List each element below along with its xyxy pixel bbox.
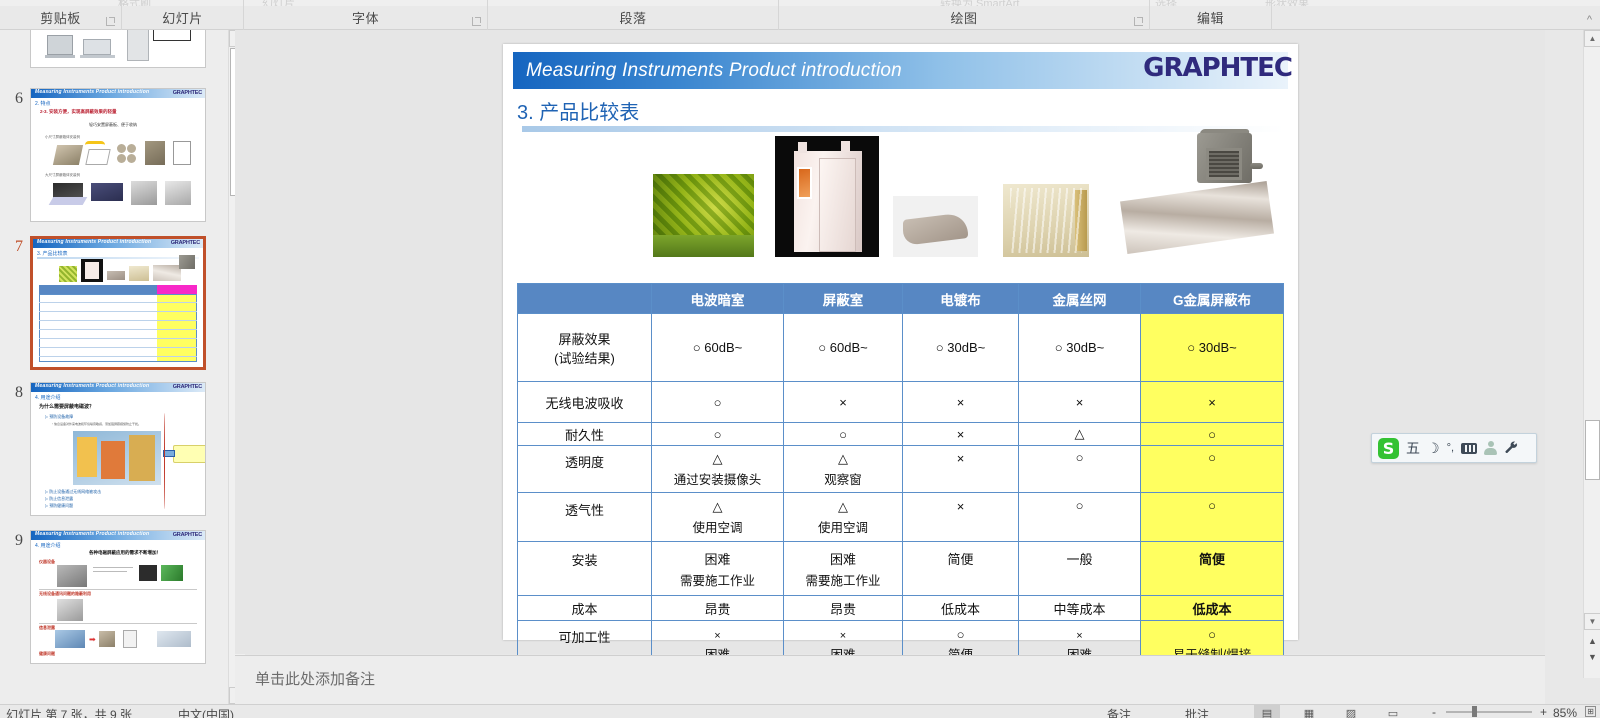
shield-room-photo[interactable] (775, 136, 879, 257)
sym-r0-c2: ○ (818, 340, 826, 355)
cell-r5-c5: 简便 (1141, 542, 1284, 596)
ribbon-group-slides-label: 幻灯片 (162, 8, 203, 30)
thumb8-bullet3: ▷ 防止信息泄露 (45, 496, 73, 502)
cell-r4-c1: △使用空调 (652, 493, 784, 542)
slide-editing-area[interactable]: Measuring Instruments Product introducti… (235, 30, 1545, 654)
cell-r6-c2: 昂贵 (784, 596, 903, 621)
thumbnail-number-7: 7 (0, 236, 30, 256)
sub-r3-c2: 观察窗 (784, 469, 902, 488)
slide-scroll-up-button[interactable]: ▲ (1584, 30, 1600, 47)
ribbon-group-slides[interactable]: 幻灯片 (122, 0, 244, 30)
cell-r0-c1: ○ 60dB~ (652, 314, 784, 382)
table-row: 透明度 △通过安装摄像头 △观察窗 × ○ ○ (518, 446, 1284, 493)
current-slide[interactable]: Measuring Instruments Product introducti… (503, 44, 1298, 640)
zoom-slider-handle[interactable] (1472, 706, 1477, 717)
cell-r3-c1: △通过安装摄像头 (652, 446, 784, 493)
thumb6-logo: GRAPHTEC (173, 90, 202, 96)
sym-r0-c5: ○ (1187, 340, 1195, 355)
collapse-ribbon-icon[interactable]: ^ (1587, 14, 1592, 26)
thumb6-caption: 轻巧安置屏蔽板、便于收纳 (89, 122, 137, 128)
cell-r1-c5: × (1141, 382, 1284, 423)
thumb9-heading: 各种电磁屏蔽应用的需求不断增加！ (89, 550, 161, 556)
sym-r7-c3: ○ (957, 627, 965, 642)
row-label-shielding-effect: 屏蔽效果 (试验结果) (518, 314, 652, 382)
thumbnail-slide-9[interactable]: Measuring Instruments Product introducti… (30, 530, 206, 664)
thumbnail-slide-5[interactable] (30, 30, 206, 68)
cell-r1-c3: × (903, 382, 1019, 423)
sub-r5-c1: 需要施工作业 (652, 570, 783, 589)
slide-section-title: 3. 产品比较表 (517, 96, 639, 125)
cell-r4-c3: × (903, 493, 1019, 542)
cell-r6-c1: 昂贵 (652, 596, 784, 621)
fit-slide-to-window-button[interactable]: ⊞ (1585, 706, 1596, 717)
sym-r3-c2: △ (838, 451, 848, 466)
th-shieldroom: 屏蔽室 (784, 284, 903, 314)
thumb6-header-title: Measuring Instruments Product introducti… (35, 89, 149, 95)
sym-r7-c2: × (840, 630, 846, 642)
cell-r3-c3: × (903, 446, 1019, 493)
slide-scroll-down-button[interactable]: ▼ (1584, 613, 1600, 630)
cell-r4-c5: ○ (1141, 493, 1284, 542)
wrench-icon[interactable] (1504, 441, 1519, 456)
notes-pane[interactable]: 单击此处添加备注 (235, 655, 1545, 704)
thumb8-subtitle: 4. 用途介绍 (35, 394, 61, 401)
cell-r0-c3: ○ 30dB~ (903, 314, 1019, 382)
th-platedcloth: 电镀布 (903, 284, 1019, 314)
row-label-line2: (试验结果) (554, 351, 615, 366)
thumb7-subtitle: 3. 产品比较表 (37, 250, 68, 257)
thumb6-note2: 大尺寸屏蔽箱体安装例 (45, 173, 80, 178)
slide-area-scrollbar[interactable]: ▲ ▼ ▲ ▼ (1583, 30, 1600, 678)
cell-r2-c1: ○ (652, 423, 784, 446)
cell-r1-c4: × (1019, 382, 1141, 423)
ribbon-group-labels-bar: 格式刷 幻灯片 转换为 SmartArt 形状效果 选择 剪贴板 幻灯片 字体 … (0, 0, 1600, 30)
thumb9-subtitle: 4. 用途介绍 (35, 542, 61, 549)
ribbon-group-clipboard[interactable]: 剪贴板 (0, 0, 122, 30)
thumb8-logo: GRAPHTEC (173, 384, 202, 390)
thumb8-bullet4: ▷ 预防健康问题 (45, 503, 73, 509)
punctuation-mode-icon[interactable]: °, (1447, 442, 1454, 454)
thumb8-header-title: Measuring Instruments Product introducti… (35, 383, 149, 389)
ribbon-group-editing-label: 编辑 (1197, 8, 1224, 30)
slide-thumbnail-pane[interactable]: 5 6 Measuring Instruments Product introd… (0, 30, 228, 704)
previous-slide-button[interactable]: ▲ (1584, 634, 1600, 648)
cell-r3-c5: ○ (1141, 446, 1284, 493)
g-metal-shield-cloth-photo[interactable] (1123, 177, 1271, 257)
zoom-out-button[interactable]: - (1432, 705, 1436, 718)
ribbon-group-editing[interactable]: 编辑 (1150, 0, 1272, 30)
ribbon-group-clipboard-label: 剪贴板 (40, 8, 81, 30)
thumbnail-slide-6[interactable]: Measuring Instruments Product introducti… (30, 88, 206, 222)
table-row: 无线电波吸收 ○ × × × × (518, 382, 1284, 423)
thumb9-s3: 信息泄露 (39, 625, 55, 631)
cell-r5-c1: 困难需要施工作业 (652, 542, 784, 596)
thumb9-logo: GRAPHTEC (173, 532, 202, 538)
thumbnail-item-9[interactable]: 9 Measuring Instruments Product introduc… (0, 530, 228, 664)
thumbnail-slide-7[interactable]: Measuring Instruments Product introducti… (30, 236, 206, 370)
row-label-durability: 耐久性 (518, 423, 652, 446)
txt-r0-c1: 60dB~ (704, 340, 742, 355)
sub-r3-c1: 通过安装摄像头 (652, 469, 783, 488)
row-label-cost: 成本 (518, 596, 652, 621)
slide-title-underline (522, 126, 1284, 132)
ribbon-group-font-label: 字体 (352, 8, 379, 30)
th-metalmesh: 金属丝网 (1019, 284, 1141, 314)
ribbon-group-drawing[interactable]: 绘图 (779, 0, 1150, 30)
thumbnail-number-6: 6 (0, 88, 30, 108)
thumbnail-number-8: 8 (0, 382, 30, 402)
cell-r5-c3: 简便 (903, 542, 1019, 596)
txt-r0-c3: 30dB~ (947, 340, 985, 355)
th-gmetalcloth: G金属屏蔽布 (1141, 284, 1284, 314)
txt-r0-c5: 30dB~ (1199, 340, 1237, 355)
font-dialog-launcher-icon[interactable] (472, 17, 481, 26)
sym-r7-c1: × (714, 630, 720, 642)
cell-r6-c4: 中等成本 (1019, 596, 1141, 621)
drawing-dialog-launcher-icon[interactable] (1134, 17, 1143, 26)
thumb8-sub1: ・信息设备对外来电波和环境噪音敏感，须加强屏蔽措施防止干扰。 (51, 422, 141, 426)
th-anechoic: 电波暗室 (652, 284, 784, 314)
anechoic-chamber-photo[interactable] (653, 174, 754, 257)
sub-r4-c2: 使用空调 (784, 517, 902, 536)
comments-toggle-button[interactable]: 批注 (1185, 706, 1209, 718)
graphtec-logo: GRAPHTEC (1143, 53, 1292, 83)
table-header-row: 电波暗室 屏蔽室 电镀布 金属丝网 G金属屏蔽布 (518, 284, 1284, 314)
txt-r0-c4: 30dB~ (1066, 340, 1104, 355)
slide-header-title: Measuring Instruments Product introducti… (526, 60, 902, 82)
table-row: 安装 困难需要施工作业 困难需要施工作业 简便 一般 简便 (518, 542, 1284, 596)
table-row: 屏蔽效果 (试验结果) ○ 60dB~ ○ 60dB~ ○ 30dB~ ○ 30… (518, 314, 1284, 382)
notes-placeholder[interactable]: 单击此处添加备注 (255, 668, 375, 689)
reading-view-button[interactable]: ▨ (1338, 705, 1364, 718)
table-row: 成本 昂贵 昂贵 低成本 中等成本 低成本 (518, 596, 1284, 621)
th-empty (518, 284, 652, 314)
row-label-installation: 安装 (518, 542, 652, 596)
ribbon-group-paragraph-label: 段落 (619, 8, 646, 30)
slide-scrollbar-thumb[interactable] (1585, 420, 1600, 480)
thumbnail-item-6[interactable]: 6 Measuring Instruments Product introduc… (0, 88, 228, 222)
table-row: 透气性 △使用空调 △使用空调 × ○ ○ (518, 493, 1284, 542)
sub-r4-c1: 使用空调 (652, 517, 783, 536)
ribbon-group-drawing-label: 绘图 (950, 8, 977, 30)
notes-toggle-button[interactable]: 备注 (1107, 706, 1131, 718)
thumb8-heading: 为什么需要屏蔽电磁波？ (39, 403, 94, 410)
person-icon[interactable] (1484, 441, 1497, 455)
thumb6-heading: 2-3. 安装方便，实现高屏蔽效果的轻量 (40, 109, 117, 115)
thumbnail-number-9: 9 (0, 530, 30, 550)
cell-r3-c4: ○ (1019, 446, 1141, 493)
cell-r6-c5: 低成本 (1141, 596, 1284, 621)
ime-input-mode-label[interactable]: 五 (1406, 438, 1420, 458)
thumb8-bullet1: ▷ 预防设备故障 (45, 414, 73, 420)
sym-r4-c1: △ (713, 499, 723, 514)
language-status[interactable]: 中文(中国) (178, 706, 234, 718)
cell-r2-c2: ○ (784, 423, 903, 446)
thumb6-subtitle: 2. 特点 (35, 100, 51, 107)
cell-r1-c2: × (784, 382, 903, 423)
ribbon-group-font[interactable]: 字体 (244, 0, 488, 30)
shield-tent-photo[interactable] (1193, 128, 1263, 188)
plated-cloth-photo[interactable] (893, 196, 978, 257)
sym-r3-c1: △ (713, 451, 723, 466)
row-label-transparency: 透明度 (518, 446, 652, 493)
cell-r5-c2: 困难需要施工作业 (784, 542, 903, 596)
sym-r0-c1: ○ (693, 340, 701, 355)
sub-r5-c2: 需要施工作业 (784, 570, 902, 589)
sogou-logo-icon[interactable]: S (1378, 438, 1399, 459)
thumb9-s1: 仪器设备 (39, 559, 55, 565)
clipboard-dialog-launcher-icon[interactable] (106, 17, 115, 26)
cell-r4-c2: △使用空调 (784, 493, 903, 542)
sym-r7-c5: ○ (1208, 627, 1216, 642)
thumb9-s2: 无线设备通讯问题的隐蔽利用 (39, 591, 91, 597)
metal-mesh-photo[interactable] (1003, 184, 1089, 257)
row-label-line1: 屏蔽效果 (558, 332, 610, 347)
sym-r0-c4: ○ (1055, 340, 1063, 355)
cell-r4-c4: ○ (1019, 493, 1141, 542)
ribbon-group-paragraph[interactable]: 段落 (488, 0, 779, 30)
cell-r0-c5: ○ 30dB~ (1141, 314, 1284, 382)
cell-r2-c4: △ (1019, 423, 1141, 446)
sym-r4-c2: △ (838, 499, 848, 514)
keyboard-icon[interactable] (1461, 443, 1477, 454)
txt-r5-c2: 困难 (830, 552, 856, 567)
row-label-breathability: 透气性 (518, 493, 652, 542)
cell-r0-c4: ○ 30dB~ (1019, 314, 1141, 382)
next-slide-button[interactable]: ▼ (1584, 650, 1600, 664)
thumb7-logo: GRAPHTEC (171, 240, 200, 246)
cell-r2-c3: × (903, 423, 1019, 446)
cell-r6-c3: 低成本 (903, 596, 1019, 621)
thumb9-header-title: Measuring Instruments Product introducti… (35, 531, 149, 537)
normal-view-button[interactable]: ▤ (1254, 705, 1280, 718)
thumbnail-item-7[interactable]: 7 Measuring Instruments Product introduc… (0, 236, 228, 370)
status-bar[interactable]: 幻灯片 第 7 张，共 9 张 中文(中国) 备注 批注 ▤ ▦ ▨ ▭ - +… (0, 704, 1600, 718)
thumb9-s4: 健康问题 (39, 651, 55, 657)
thumb6-note1: 小尺寸屏蔽箱体安装例 (45, 135, 80, 140)
zoom-in-button[interactable]: + (1540, 705, 1547, 718)
moon-icon[interactable]: ☽ (1427, 440, 1440, 457)
cell-r2-c5: ○ (1141, 423, 1284, 446)
thumb8-bullet2: ▷ 防止设备通过无线网络被攻击 (45, 489, 101, 495)
cell-r1-c1: ○ (652, 382, 784, 423)
sym-r7-c4: × (1076, 630, 1082, 642)
slide-sorter-view-button[interactable]: ▦ (1296, 705, 1322, 718)
txt-r0-c2: 60dB~ (830, 340, 868, 355)
txt-r5-c1: 困难 (704, 552, 730, 567)
slide-count-status[interactable]: 幻灯片 第 7 张，共 9 张 (6, 706, 132, 718)
row-label-radio-absorption: 无线电波吸收 (518, 382, 652, 423)
thumb7-header-title: Measuring Instruments Product introducti… (37, 239, 151, 245)
thumbnail-slide-8[interactable]: Measuring Instruments Product introducti… (30, 382, 206, 516)
cell-r0-c2: ○ 60dB~ (784, 314, 903, 382)
zoom-level-label[interactable]: 85% (1553, 706, 1577, 718)
sogou-ime-toolbar[interactable]: S 五 ☽ °, (1371, 433, 1537, 463)
cell-r5-c4: 一般 (1019, 542, 1141, 596)
thumbnail-item-5[interactable]: 5 (0, 30, 228, 68)
thumbnail-item-8[interactable]: 8 Measuring Instruments Product introduc… (0, 382, 228, 516)
cell-r3-c2: △观察窗 (784, 446, 903, 493)
zoom-slider[interactable] (1446, 711, 1532, 713)
product-comparison-table[interactable]: 电波暗室 屏蔽室 电镀布 金属丝网 G金属屏蔽布 屏蔽效果 (试验结果) ○ 6… (517, 283, 1284, 669)
slideshow-view-button[interactable]: ▭ (1380, 705, 1406, 718)
sym-r0-c3: ○ (936, 340, 944, 355)
table-row: 耐久性 ○ ○ × △ ○ (518, 423, 1284, 446)
